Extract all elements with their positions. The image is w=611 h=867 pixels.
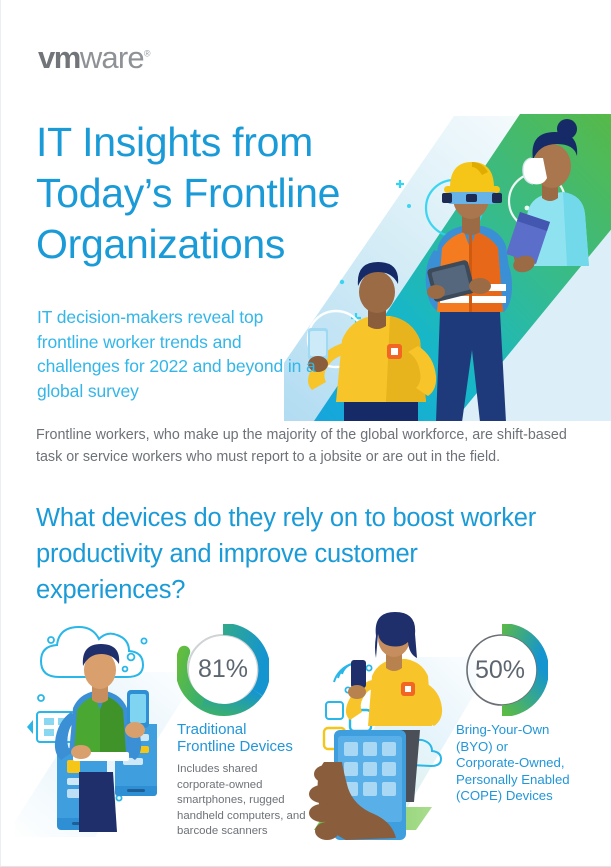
woman-yellow-sweater-hand-smartphone-illustration xyxy=(306,612,476,847)
donut-label-byo-cope-devices: Bring-Your-Own (BYO) or Corporate-Owned,… xyxy=(456,722,601,805)
page-title-line-1: IT Insights from xyxy=(36,119,313,165)
donut-chart-traditional-devices: 81% xyxy=(177,624,269,721)
page-title-line-3: Organizations xyxy=(36,221,285,267)
page-title: IT Insights from Today’s Frontline Organ… xyxy=(36,117,416,270)
donut-label-line-1: Traditional xyxy=(177,721,246,738)
stat-block-byo-cope-devices: 50% Bring-Your-Own (BYO) or Corporate-Ow… xyxy=(306,612,606,862)
donut-label-line-5: (COPE) Devices xyxy=(456,788,553,803)
registered-trademark-icon: ® xyxy=(144,49,150,59)
wifi-icon xyxy=(334,664,352,682)
vmware-logo: vmware® xyxy=(38,42,150,73)
app-square-icon-1 xyxy=(326,702,343,719)
donut-label-line-4: Personally Enabled xyxy=(456,772,570,787)
intro-paragraph: Frontline workers, who make up the major… xyxy=(36,425,581,468)
donut-label-line-3: Corporate-Owned, xyxy=(456,755,564,770)
donut-chart-byo-cope-devices: 50% xyxy=(456,624,548,721)
donut-description-traditional-devices: Includes shared corporate-owned smartpho… xyxy=(177,762,309,840)
donut-label-line-2: (BYO) or xyxy=(456,739,508,754)
donut-label-traditional-devices: Traditional Frontline Devices xyxy=(177,722,307,755)
donut-value-text: 81% xyxy=(198,655,248,683)
donut-value-text: 50% xyxy=(475,656,525,684)
donut-label-line-2: Frontline Devices xyxy=(177,738,293,755)
smartphone-icon-small xyxy=(351,660,366,688)
donut-label-line-1: Bring-Your-Own xyxy=(456,722,549,737)
page-subtitle: IT decision-makers reveal top frontline … xyxy=(37,305,322,403)
logo-vm-text: vm xyxy=(38,40,80,75)
stat-block-traditional-devices: 81% Traditional Frontline Devices Includ… xyxy=(15,612,315,862)
page-title-line-2: Today’s Frontline xyxy=(36,170,340,216)
logo-ware-text: ware xyxy=(80,40,144,75)
section-question-heading: What devices do they rely on to boost wo… xyxy=(36,500,561,608)
worker-green-vest-cloud-devices-illustration xyxy=(15,612,190,837)
